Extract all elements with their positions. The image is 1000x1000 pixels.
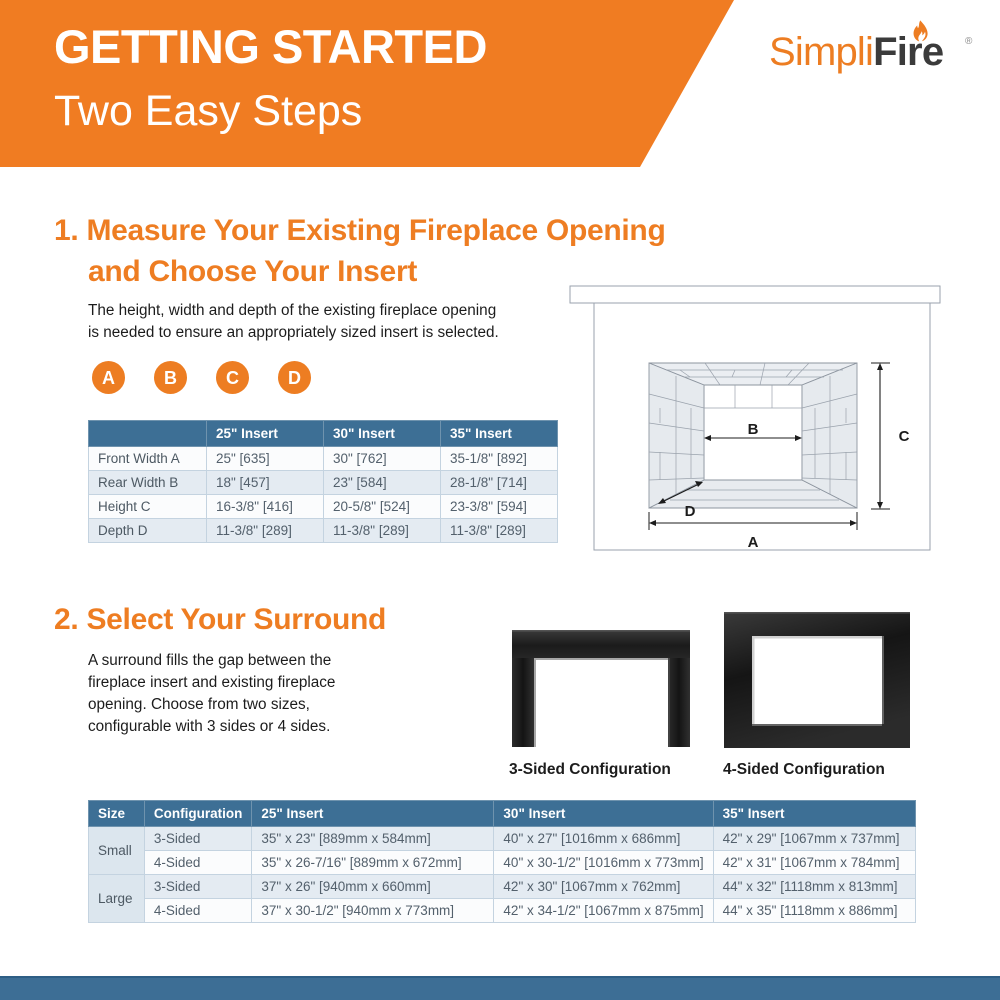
cell-value: 35-1/8" [892] <box>441 447 558 471</box>
column-header-30: 30" Insert <box>324 421 441 447</box>
row-label: Front Width A <box>89 447 207 471</box>
simplifire-logo: SimpliFire ® <box>769 22 981 80</box>
insert-dimensions-table: 25" Insert 30" Insert 35" Insert Front W… <box>88 420 558 543</box>
table-row: Depth D 11-3/8" [289] 11-3/8" [289] 11-3… <box>89 519 558 543</box>
table-row: Small 3-Sided 35" x 23" [889mm x 584mm] … <box>89 827 916 851</box>
step1-body-line2: is needed to ensure an appropriately siz… <box>88 322 499 344</box>
surround-sizes-table: Size Configuration 25" Insert 30" Insert… <box>88 800 916 923</box>
table-row: Height C 16-3/8" [416] 20-5/8" [524] 23-… <box>89 495 558 519</box>
step1-body-line1: The height, width and depth of the exist… <box>88 300 496 322</box>
step2-body-line3: opening. Choose from two sizes, <box>88 694 310 716</box>
cell-value: 23" [584] <box>324 471 441 495</box>
column-header-size: Size <box>89 801 145 827</box>
fireplace-measurement-diagram: B C A D <box>560 280 952 556</box>
cell-value: 11-3/8" [289] <box>441 519 558 543</box>
table-header-row: 25" Insert 30" Insert 35" Insert <box>89 421 558 447</box>
row-label: Depth D <box>89 519 207 543</box>
cell-value: 11-3/8" [289] <box>324 519 441 543</box>
column-header-25: 25" Insert <box>207 421 324 447</box>
table-row: 4-Sided 37" x 30-1/2" [940mm x 773mm] 42… <box>89 899 916 923</box>
cell-value: 37" x 26" [940mm x 660mm] <box>252 875 494 899</box>
cell-value: 25" [635] <box>207 447 324 471</box>
column-header-30: 30" Insert <box>494 801 713 827</box>
page-title: GETTING STARTED <box>54 20 487 74</box>
cell-value: 44" x 32" [1118mm x 813mm] <box>713 875 915 899</box>
logo-text-fire: Fire <box>873 30 943 74</box>
table-header-row: Size Configuration 25" Insert 30" Insert… <box>89 801 916 827</box>
logo-wordmark: SimpliFire <box>769 30 943 74</box>
step2-heading: 2. Select Your Surround <box>54 601 386 638</box>
cell-value: 30" [762] <box>324 447 441 471</box>
cell-value: 35" x 26-7/16" [889mm x 672mm] <box>252 851 494 875</box>
surround-3-sided-image <box>510 628 692 750</box>
cell-value: 18" [457] <box>207 471 324 495</box>
cell-value: 40" x 30-1/2" [1016mm x 773mm] <box>494 851 713 875</box>
page-subtitle: Two Easy Steps <box>54 86 362 136</box>
cell-value: 42" x 30" [1067mm x 762mm] <box>494 875 713 899</box>
step2-body-line1: A surround fills the gap between the <box>88 650 331 672</box>
dimension-label-b: B <box>748 421 759 438</box>
column-header-35: 35" Insert <box>441 421 558 447</box>
table-row: 4-Sided 35" x 26-7/16" [889mm x 672mm] 4… <box>89 851 916 875</box>
column-header-configuration: Configuration <box>144 801 251 827</box>
column-header-blank <box>89 421 207 447</box>
table-row: Large 3-Sided 37" x 26" [940mm x 660mm] … <box>89 875 916 899</box>
legend-badge-b: B <box>154 361 187 394</box>
legend-badge-c: C <box>216 361 249 394</box>
cell-value: 44" x 35" [1118mm x 886mm] <box>713 899 915 923</box>
surround-4-sided-image <box>722 610 912 750</box>
cell-value: 35" x 23" [889mm x 584mm] <box>252 827 494 851</box>
dimension-label-c: C <box>899 428 910 445</box>
registered-trademark-mark: ® <box>965 36 972 47</box>
column-header-25: 25" Insert <box>252 801 494 827</box>
step2-body-line2: fireplace insert and existing fireplace <box>88 672 335 694</box>
mantel-shelf <box>570 286 940 303</box>
cell-value: 28-1/8" [714] <box>441 471 558 495</box>
size-group-label: Large <box>89 875 145 923</box>
cell-value: 23-3/8" [594] <box>441 495 558 519</box>
configuration-label: 4-Sided <box>144 899 251 923</box>
cell-value: 42" x 34-1/2" [1067mm x 875mm] <box>494 899 713 923</box>
page-root: GETTING STARTED Two Easy Steps SimpliFir… <box>0 0 1000 1000</box>
surround-3-sided-caption: 3-Sided Configuration <box>509 761 671 779</box>
cell-value: 37" x 30-1/2" [940mm x 773mm] <box>252 899 494 923</box>
cell-value: 16-3/8" [416] <box>207 495 324 519</box>
configuration-label: 3-Sided <box>144 875 251 899</box>
surround-4-sided-caption: 4-Sided Configuration <box>723 761 885 779</box>
configuration-label: 4-Sided <box>144 851 251 875</box>
legend-badge-a: A <box>92 361 125 394</box>
configuration-label: 3-Sided <box>144 827 251 851</box>
legend-badge-d: D <box>278 361 311 394</box>
cell-value: 40" x 27" [1016mm x 686mm] <box>494 827 713 851</box>
table-row: Rear Width B 18" [457] 23" [584] 28-1/8"… <box>89 471 558 495</box>
dimension-label-d: D <box>685 503 696 520</box>
dimension-label-a: A <box>748 534 759 551</box>
column-header-35: 35" Insert <box>713 801 915 827</box>
logo-text-simpli: Simpli <box>769 30 873 74</box>
step1-heading-line2: and Choose Your Insert <box>88 253 417 290</box>
size-group-label: Small <box>89 827 145 875</box>
cell-value: 11-3/8" [289] <box>207 519 324 543</box>
cell-value: 42" x 31" [1067mm x 784mm] <box>713 851 915 875</box>
table-row: Front Width A 25" [635] 30" [762] 35-1/8… <box>89 447 558 471</box>
step1-heading-line1: 1. Measure Your Existing Fireplace Openi… <box>54 212 665 249</box>
cell-value: 20-5/8" [524] <box>324 495 441 519</box>
footer-bar <box>0 978 1000 1000</box>
cell-value: 42" x 29" [1067mm x 737mm] <box>713 827 915 851</box>
step2-body-line4: configurable with 3 sides or 4 sides. <box>88 716 330 738</box>
row-label: Height C <box>89 495 207 519</box>
row-label: Rear Width B <box>89 471 207 495</box>
